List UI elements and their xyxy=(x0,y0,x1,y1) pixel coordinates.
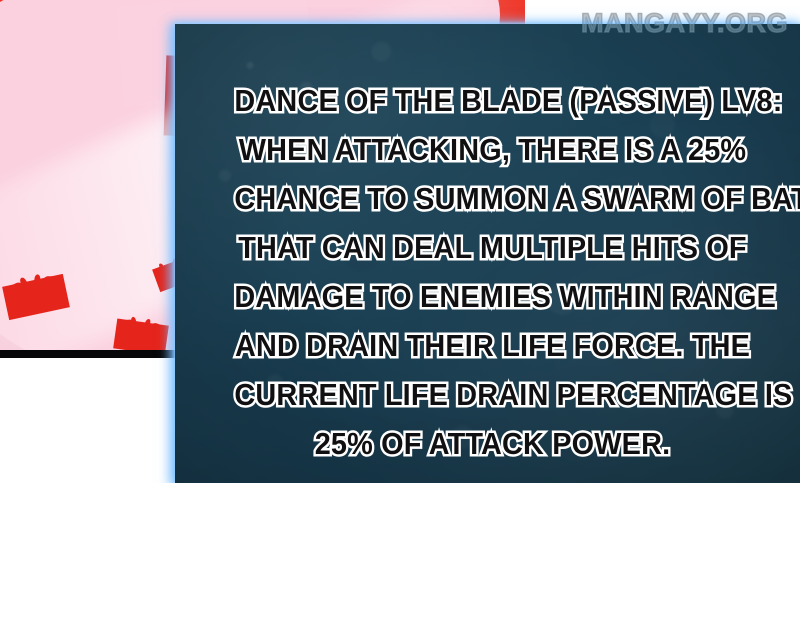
skill-line-6: AND DRAIN THEIR LIFE FORCE. THE xyxy=(234,321,750,370)
skill-description-panel: DANCE OF THE BLADE (PASSIVE) LV8: WHEN A… xyxy=(175,24,800,483)
blank-page-area-bottom xyxy=(0,483,800,624)
skill-text-block: DANCE OF THE BLADE (PASSIVE) LV8: WHEN A… xyxy=(215,76,770,468)
skill-line-1: DANCE OF THE BLADE (PASSIVE) LV8: xyxy=(234,76,750,125)
skill-line-7: CURRENT LIFE DRAIN PERCENTAGE IS xyxy=(234,370,750,419)
skill-line-5: DAMAGE TO ENEMIES WITHIN RANGE xyxy=(234,272,750,321)
comic-page: DANCE OF THE BLADE (PASSIVE) LV8: WHEN A… xyxy=(0,0,800,624)
skill-line-3: CHANCE TO SUMMON A SWARM OF BATS xyxy=(234,174,750,223)
skill-line-4: THAT CAN DEAL MULTIPLE HITS OF xyxy=(234,223,750,272)
skill-line-2: WHEN ATTACKING, THERE IS A 25% xyxy=(234,125,750,174)
skill-line-8: 25% OF ATTACK POWER. xyxy=(234,419,750,468)
site-watermark: MANGAYY.ORG xyxy=(581,8,788,39)
